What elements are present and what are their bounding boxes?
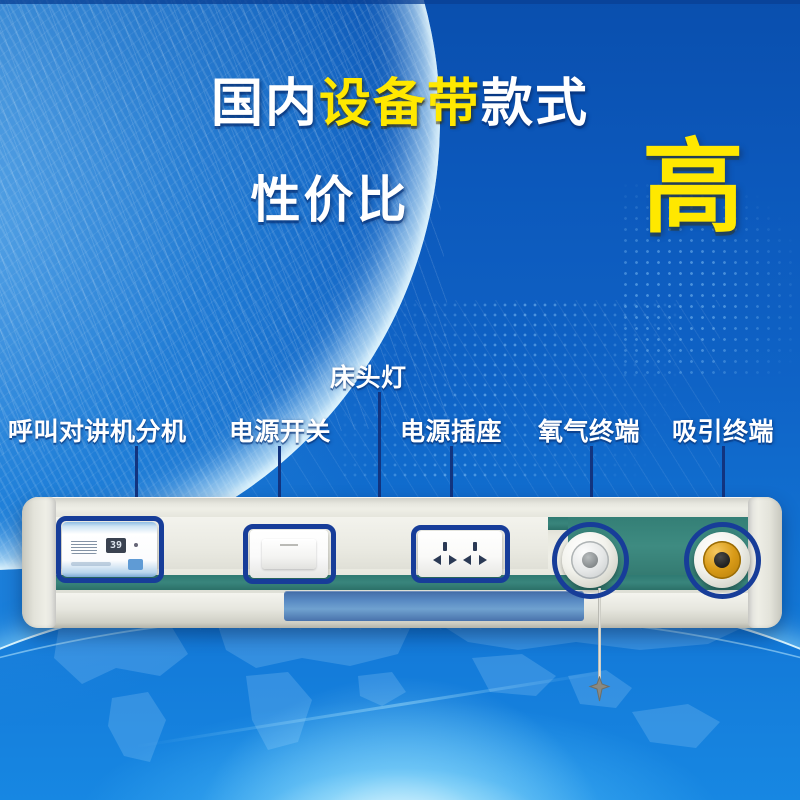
callout-label-power-socket: 电源插座: [400, 412, 502, 448]
panel-end-cap-left: [22, 497, 56, 628]
callout-label-oxygen-outlet: 氧气终端: [538, 412, 640, 448]
headline-part-3: 款式: [481, 74, 589, 134]
callout-label-intercom: 呼叫对讲机分机: [8, 412, 187, 448]
headline-line-1: 国内设备带款式: [0, 78, 800, 130]
lamp-pull-cord[interactable]: [598, 588, 601, 680]
headline-part-2: 设备带: [319, 74, 481, 134]
headline-part-1: 国内: [211, 74, 319, 134]
callout-label-bed-lamp: 床头灯: [330, 358, 407, 394]
promo-image: 国内设备带款式 性价比 高 呼叫对讲机分机 电源开关 床头灯 电源插座 氧气终端…: [0, 0, 800, 800]
headline-subtitle: 性价比: [251, 160, 410, 232]
highlight-circle-oxygen: [552, 522, 629, 599]
headline-accent-word: 高: [642, 138, 744, 240]
highlight-circle-suction: [684, 522, 761, 599]
highlight-box-power-socket: [411, 525, 510, 583]
highlight-box-power-switch: [243, 524, 336, 584]
panel-protective-film: [284, 591, 584, 621]
pull-cord-handle-icon[interactable]: [586, 676, 613, 703]
callout-label-power-switch: 电源开关: [229, 412, 331, 448]
top-edge-bar: [0, 0, 800, 4]
headline-block: 国内设备带款式: [0, 78, 800, 130]
callout-label-suction-outlet: 吸引终端: [672, 412, 774, 448]
highlight-box-intercom: [56, 516, 164, 583]
bottom-glow: [180, 670, 620, 800]
